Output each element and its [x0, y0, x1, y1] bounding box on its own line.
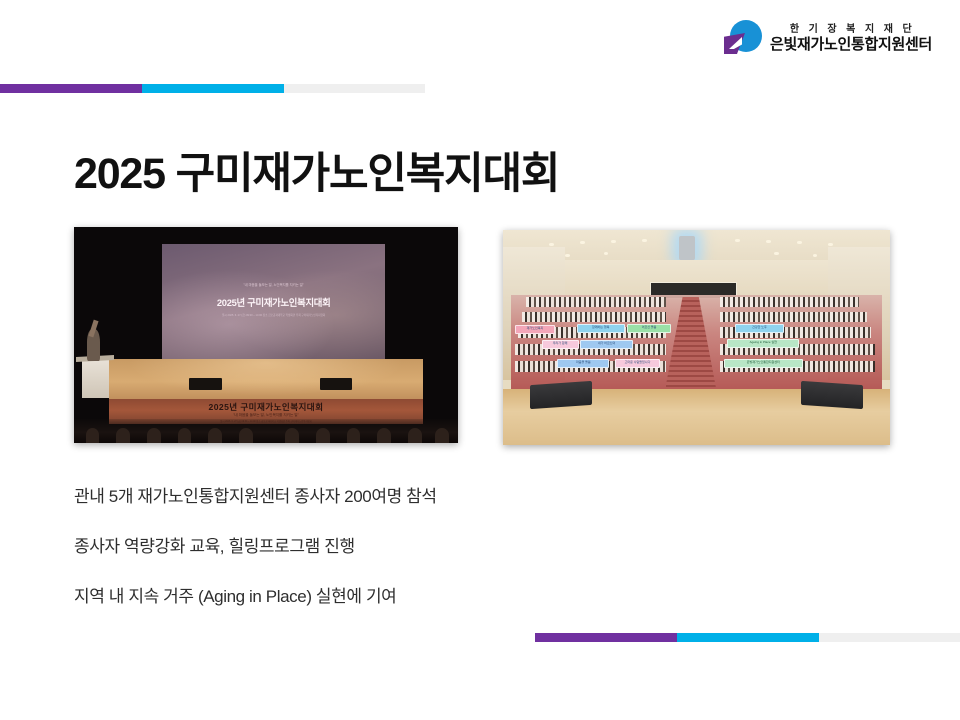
- stage-banner-title: 2025년 구미재가노인복지대회: [109, 401, 424, 413]
- screen-title: 2025년 구미재가노인복지대회: [171, 295, 376, 309]
- summary-line: 종사자 역량강화 교육, 힐링프로그램 진행: [74, 532, 437, 557]
- placard: 함께하는 행복: [577, 324, 625, 333]
- summary-text-block: 관내 5개 재가노인통합지원센터 종사자 200여명 참석 종사자 역량강화 교…: [74, 482, 437, 607]
- stage-monitor-left: [189, 378, 222, 390]
- top-accent-segment-purple: [0, 84, 142, 93]
- placard: 우리가 함께: [542, 340, 579, 349]
- logo-text-block: 한 기 장 복 지 재 단 은빛재가노인통합지원센터: [770, 24, 932, 54]
- eunbit-center-logo-icon: [724, 20, 762, 58]
- stage-banner-subtitle: "내 마음을 돌보는 일, 노인복지를 지키는 일": [109, 413, 424, 418]
- stage-monitor-right: [801, 381, 863, 409]
- bottom-accent-segment-cyan: [677, 633, 819, 642]
- projection-screen: "내 마음을 돌보는 일, 노인복지를 지키는 일" 2025년 구미재가노인복…: [162, 244, 385, 358]
- foundation-name: 한 기 장 복 지 재 단: [787, 24, 915, 35]
- summary-line: 관내 5개 재가노인통합지원센터 종사자 200여명 참석: [74, 482, 437, 507]
- organization-logo-lockup: 한 기 장 복 지 재 단 은빛재가노인통합지원센터: [724, 20, 932, 58]
- placard: 마음을 돌봄: [557, 359, 609, 368]
- top-accent-bar: [0, 84, 425, 93]
- page-title: 2025 구미재가노인복지대회: [74, 139, 559, 201]
- stage-monitor-left: [530, 381, 592, 409]
- screen-headline: "내 마음을 돌보는 일, 노인복지를 지키는 일": [176, 282, 372, 287]
- top-accent-segment-cyan: [142, 84, 284, 93]
- stage-floor: [109, 359, 424, 400]
- stage-photo: "내 마음을 돌보는 일, 노인복지를 지키는 일" 2025년 구미재가노인복…: [74, 227, 458, 443]
- ceiling-projector: [679, 236, 694, 260]
- stage-monitor-right: [320, 378, 353, 390]
- placard: 건강한 노후: [735, 324, 783, 333]
- summary-line: 지역 내 지속 거주 (Aging in Place) 실현에 기여: [74, 582, 437, 607]
- stage-photo-content: "내 마음을 돌보는 일, 노인복지를 지키는 일" 2025년 구미재가노인복…: [74, 227, 458, 443]
- audience-photo: 재가노인복지 함께하는 행복 어르신 돌봄 건강한 노후 Ageing in P…: [503, 230, 890, 445]
- bottom-accent-segment-purple: [535, 633, 677, 642]
- placard: 재가노인복지: [515, 325, 556, 334]
- placard: 은빛재가노인통합지원센터: [724, 359, 803, 368]
- slide-canvas: 한 기 장 복 지 재 단 은빛재가노인통합지원센터 2025 구미재가노인복지…: [0, 0, 960, 720]
- screen-subtitle: 일시 2025. 6. 27.(금) 09:30 ~ 14:00 장소 금오공과…: [176, 313, 372, 317]
- placard: 어르신 돌봄: [627, 324, 672, 333]
- audience-photo-content: 재가노인복지 함께하는 행복 어르신 돌봄 건강한 노후 Ageing in P…: [503, 230, 890, 445]
- podium: [82, 359, 109, 398]
- front-row-audience: [74, 419, 458, 443]
- placard: 고마운 사람들입니다: [615, 359, 660, 368]
- bottom-accent-bar: [535, 633, 960, 642]
- placard: Ageing in Place 실현: [727, 339, 799, 348]
- placard: 내가 어르신의: [580, 340, 632, 349]
- center-name: 은빛재가노인통합지원센터: [770, 37, 932, 54]
- top-accent-segment-gray: [284, 84, 425, 93]
- bottom-accent-segment-gray: [819, 633, 960, 642]
